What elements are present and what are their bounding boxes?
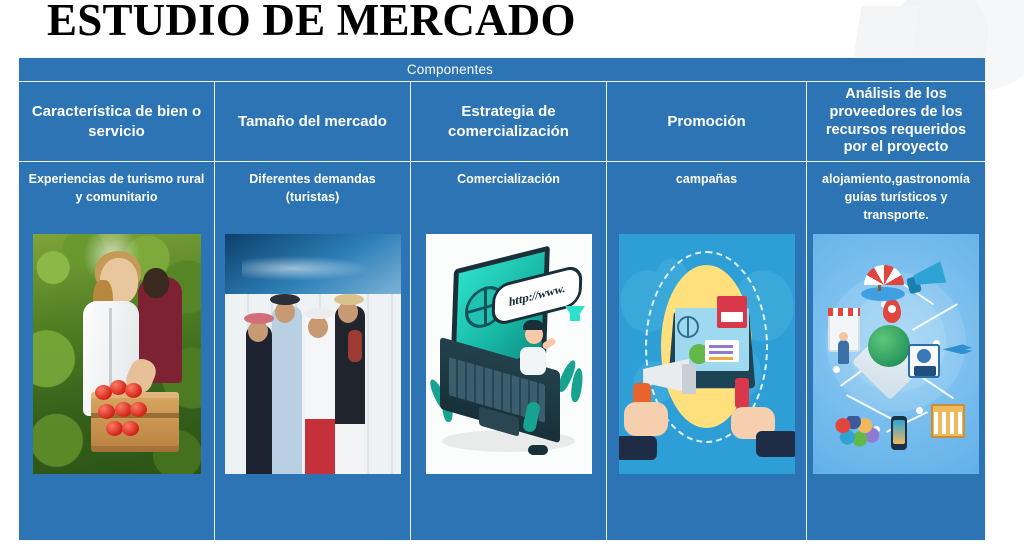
right-sleeve — [756, 431, 795, 457]
tourist-group-photo — [225, 234, 401, 474]
tourist-body-1 — [246, 325, 272, 474]
column-header-1: Característica de bien o servicio — [19, 82, 214, 162]
tomato-icon — [130, 402, 147, 417]
column-header-4: Promoción — [607, 82, 806, 162]
kiosk-person — [838, 340, 849, 364]
column-media-cell-5 — [807, 234, 985, 541]
column-description-2: Diferentes demandas (turistas) — [215, 162, 410, 234]
tourism-services-network-illustration — [813, 234, 979, 474]
table-column-tamano-mercado: Tamaño del mercado Diferentes demandas (… — [215, 82, 411, 541]
left-hand — [624, 402, 668, 436]
components-table: Componentes Característica de bien o ser… — [18, 57, 986, 541]
person-hair — [523, 320, 544, 330]
column-description-1: Experiencias de turismo rural y comunita… — [19, 162, 214, 234]
table-columns-grid: Característica de bien o servicio Experi… — [19, 82, 985, 541]
laptop-website-illustration: http://www. — [426, 234, 592, 474]
column-header-5: Análisis de los proveedores de los recur… — [807, 82, 985, 162]
tomato-harvest-photo — [33, 234, 201, 474]
social-media-icons — [835, 416, 879, 448]
map-pin-icon — [883, 299, 901, 323]
connector-node — [833, 366, 840, 373]
tourist-body-2 — [272, 306, 302, 474]
background-watermark — [804, 0, 1024, 58]
hat-icon — [334, 294, 364, 305]
download-arrow-icon — [565, 306, 585, 321]
left-sleeve — [619, 436, 657, 460]
table-column-caracteristica: Característica de bien o servicio Experi… — [19, 82, 215, 541]
column-media-cell-3: http://www. — [411, 234, 606, 541]
table-column-analisis-proveedores: Análisis de los proveedores de los recur… — [807, 82, 985, 541]
second-worker-head — [143, 268, 169, 298]
slide-title: ESTUDIO DE MERCADO — [47, 0, 576, 46]
mural-background — [225, 234, 401, 296]
red-card — [717, 296, 747, 328]
merged-header-label: Componentes — [407, 62, 493, 77]
column-header-2: Tamaño del mercado — [215, 82, 410, 162]
phone-device — [735, 378, 749, 408]
column-header-3: Estrategia de comercialización — [411, 82, 606, 162]
megaphone-digital-marketing-illustration — [619, 234, 795, 474]
column-media-cell-1 — [19, 234, 214, 541]
tomato-icon — [125, 383, 142, 398]
column-description-3: Comercialización — [411, 162, 606, 234]
column-description-4: campañas — [607, 162, 806, 234]
earth-icon — [868, 325, 910, 367]
table-column-estrategia: Estrategia de comercialización Comercial… — [411, 82, 607, 541]
globe-icon — [677, 316, 699, 338]
person-shoe — [528, 445, 548, 455]
beach-umbrella-icon — [864, 265, 904, 285]
connector-node — [916, 407, 923, 414]
column-description-5: alojamiento,gastronomía guías turísticos… — [807, 162, 985, 234]
white-card — [705, 340, 739, 362]
megaphone-body — [682, 364, 696, 394]
person-body — [520, 347, 546, 375]
url-text: http://www. — [508, 281, 564, 310]
tomato-icon — [122, 421, 139, 436]
travel-agent-icon — [908, 344, 940, 378]
table-merged-header-row: Componentes — [19, 58, 985, 82]
column-media-cell-2 — [215, 234, 410, 541]
umbrella-base — [861, 287, 905, 301]
table-column-promocion: Promoción campañas — [607, 82, 807, 541]
mobile-phone-icon — [891, 416, 907, 450]
backpack — [348, 330, 362, 362]
column-media-cell-4 — [607, 234, 806, 541]
hotel-building-icon — [931, 404, 965, 438]
